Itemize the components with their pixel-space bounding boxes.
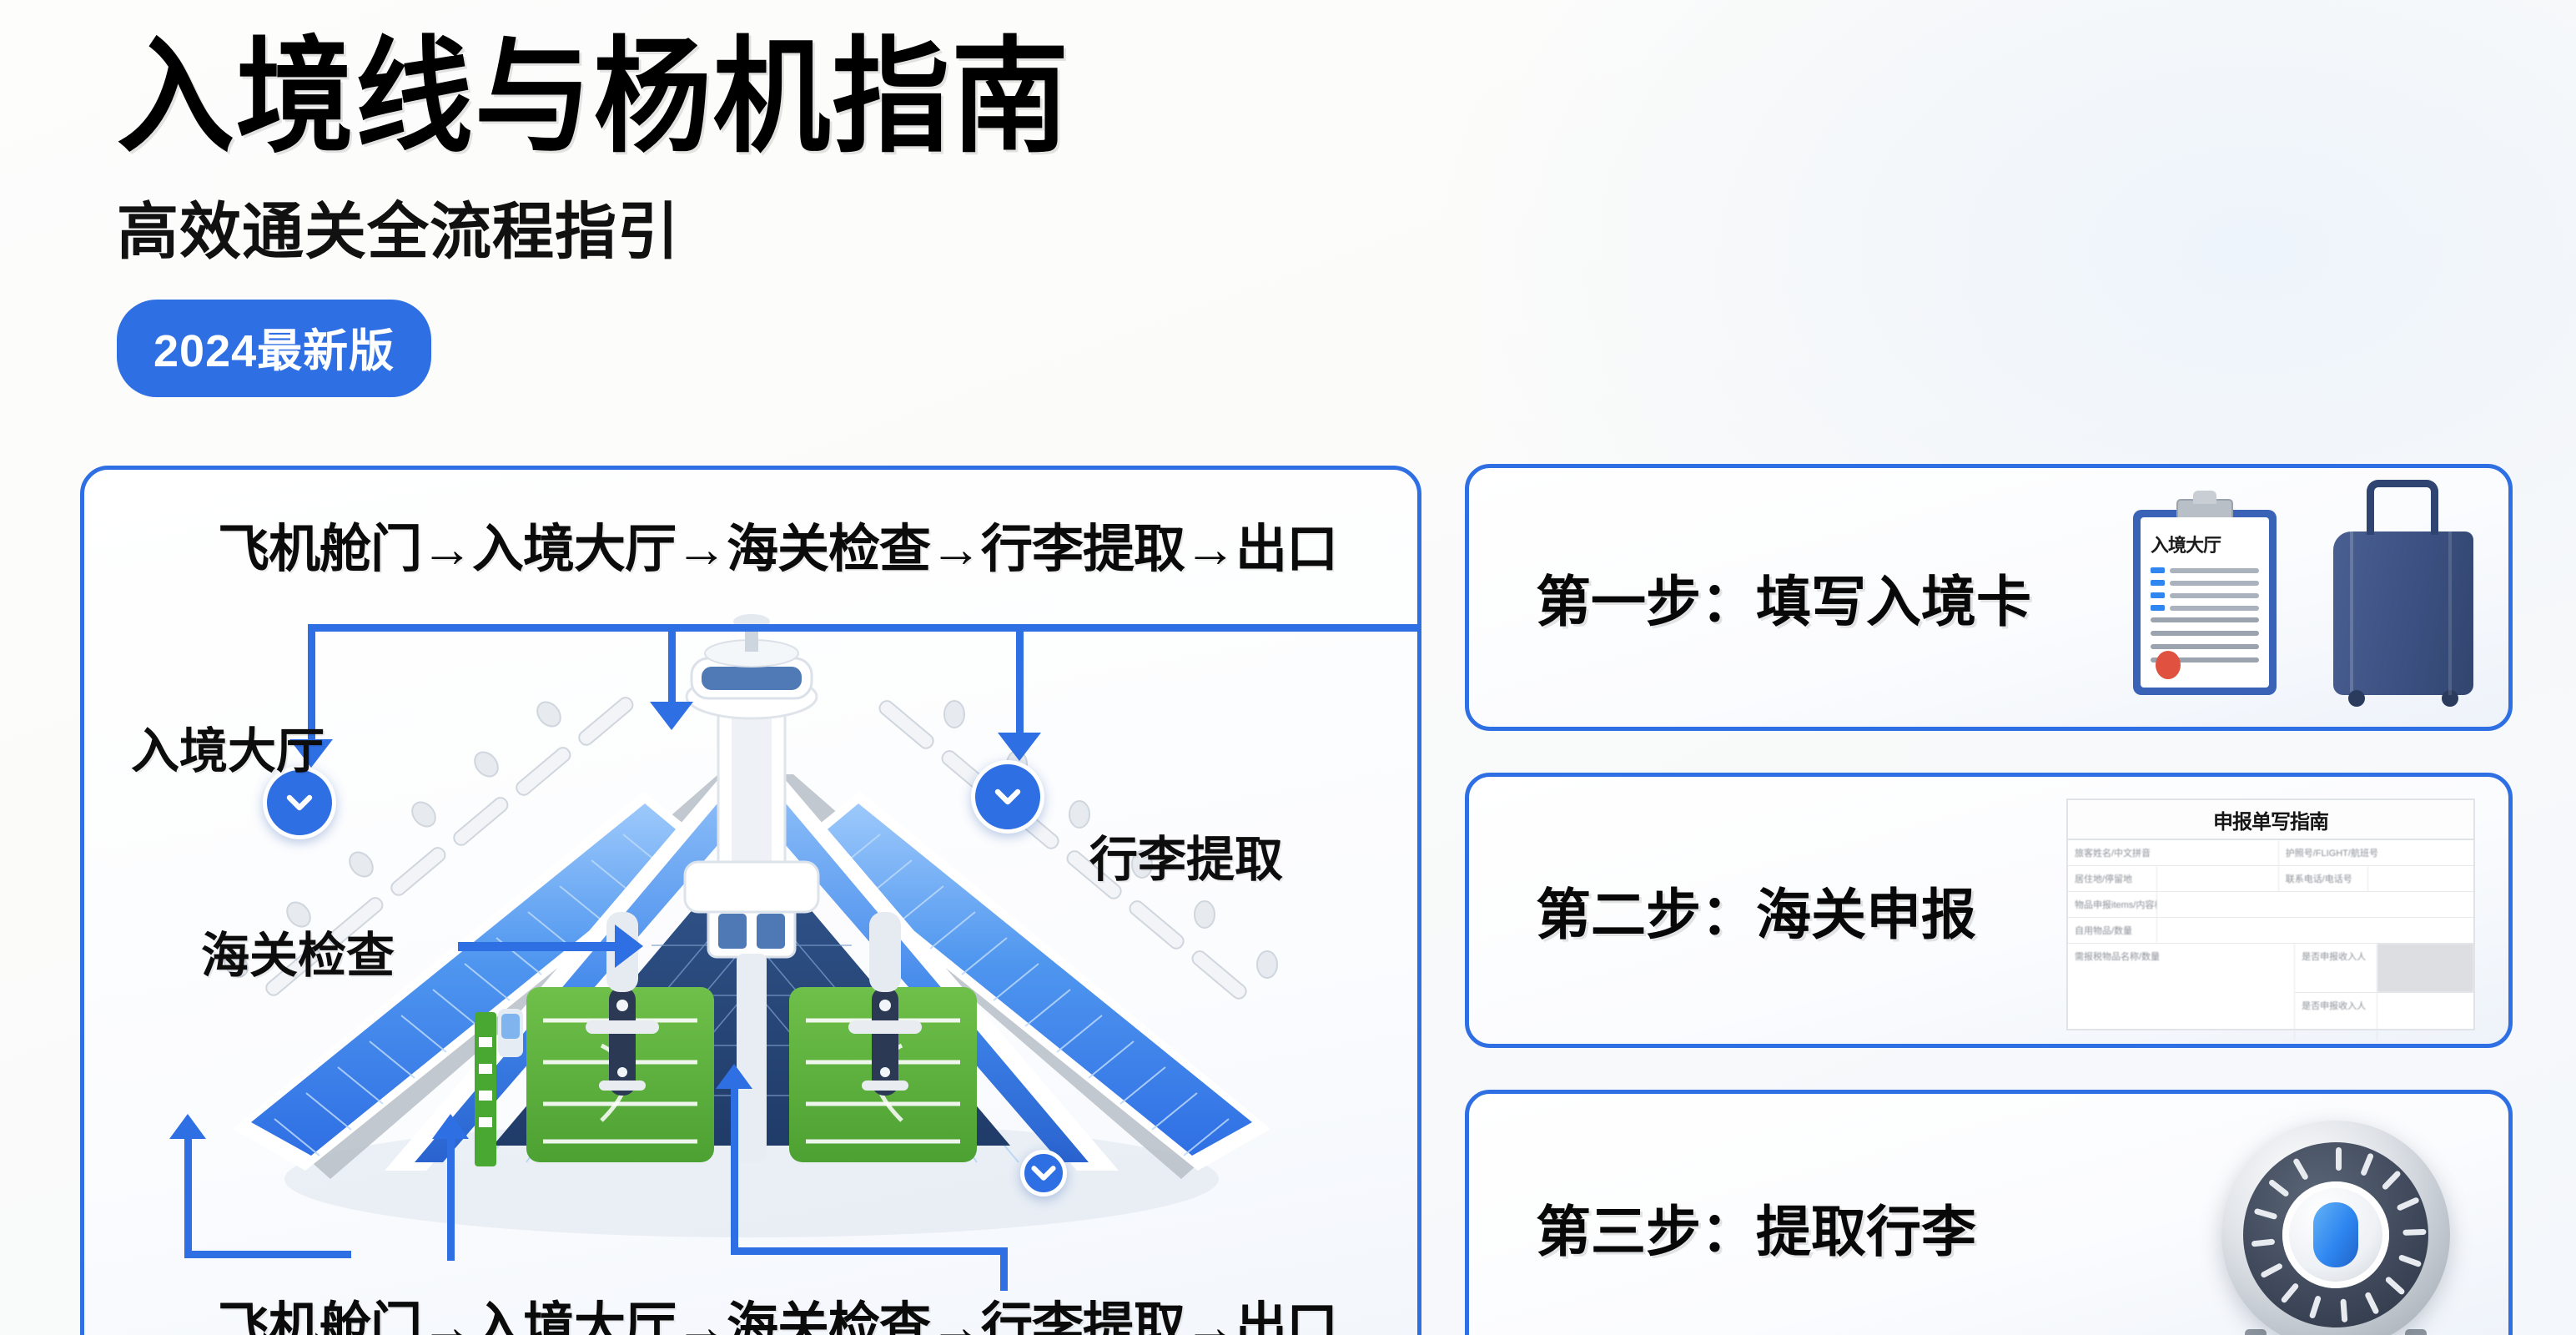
map-label-customs-check: 海关检查	[201, 916, 395, 986]
baggage-carousel-illustration	[2206, 1102, 2465, 1335]
text-placeholder	[2151, 644, 2259, 649]
step-card-3[interactable]: 第三步：提取行李	[1465, 1090, 2513, 1335]
clipboard-icon: 入境大厅	[2133, 510, 2277, 695]
suitcase-handle-icon	[2367, 480, 2438, 535]
clipboard-checkline	[2151, 592, 2259, 598]
table-cell: 需报税物品名称/数量	[2068, 944, 2295, 1040]
carousel-leg	[2245, 1329, 2267, 1335]
check-tick-icon	[2151, 580, 2165, 586]
table-row: 自用物品/数量	[2068, 918, 2473, 944]
chevron-down-badge-refund[interactable]	[1020, 1150, 1067, 1196]
table-cell-blank	[2157, 892, 2473, 917]
table-cell-blank	[2157, 918, 2473, 943]
arrow-down-baggage	[998, 733, 1041, 761]
clipboard-paper: 入境大厅	[2141, 517, 2269, 688]
terminal-map-panel: 飞机舱门→入境大厅→海关检查→行李提取→出口 飞机舱门→入境大厅→海关检查→行李…	[80, 466, 1421, 1335]
clipboard-header: 入境大厅	[2151, 531, 2259, 557]
chevron-down-icon	[988, 777, 1028, 817]
belt-tick	[2364, 1292, 2380, 1315]
belt-tick	[2384, 1276, 2405, 1296]
chevron-down-badge-baggage[interactable]	[971, 760, 1044, 834]
table-cell: 物品申报items/内容栏	[2068, 892, 2157, 917]
page-subtitle: 高效通关全流程指引	[117, 182, 1131, 271]
belt-tick	[2336, 1147, 2342, 1171]
infographic-page: 入境线与杨机指南 高效通关全流程指引 2024最新版	[0, 0, 2576, 1335]
text-placeholder	[2151, 617, 2259, 622]
table-cell-blank	[2157, 866, 2279, 891]
arrow-down-tower	[650, 702, 693, 730]
red-stamp-icon	[2156, 651, 2181, 679]
table-cell: 居住地/停留地	[2068, 866, 2157, 891]
chevron-down-icon	[1024, 1154, 1063, 1192]
table-row: 是否申报收入人	[2295, 993, 2473, 1041]
carousel-outer-ring	[2221, 1121, 2450, 1335]
belt-tick	[2381, 1170, 2401, 1191]
belt-tick	[2292, 1157, 2309, 1181]
connector-top-bus	[308, 624, 1384, 632]
clipboard-checkline	[2151, 567, 2259, 573]
belt-tick	[2309, 1295, 2322, 1319]
check-tick-icon	[2151, 592, 2165, 598]
table-cell: 护照号/FLIGHT/航班号	[2279, 840, 2473, 865]
map-label-arrivals-hall: 入境大厅	[131, 712, 325, 782]
belt-tick	[2402, 1229, 2426, 1236]
step-2-title: 第二步：海关申报	[1536, 870, 1976, 950]
arrow-up-left	[169, 1114, 206, 1139]
connector-bus-to-step1	[1376, 624, 1421, 632]
clipboard-and-suitcase-illustration: 入境大厅	[2126, 498, 2477, 707]
table-row: 居住地/停留地 联系电话/电话号	[2068, 866, 2473, 892]
suitcase-wheel-icon	[2348, 690, 2365, 707]
text-placeholder	[2170, 593, 2259, 598]
step-1-title: 第一步：填写入境卡	[1536, 557, 2031, 637]
carousel-hub	[2282, 1181, 2389, 1288]
carousel-leg	[2405, 1329, 2427, 1335]
check-tick-icon	[2151, 567, 2165, 573]
arrow-up-mid	[432, 1114, 469, 1139]
table-cell-blank	[2368, 866, 2473, 891]
belt-tick	[2340, 1299, 2347, 1322]
arrow-right-customs	[615, 924, 643, 968]
connector-to-tower	[668, 624, 676, 703]
text-placeholder	[2170, 581, 2259, 586]
clipboard-checkline	[2151, 605, 2259, 611]
step-card-2[interactable]: 第二步：海关申报 申报单写指南 旅客姓名/中文拼音 护照号/FLIGHT/航班号…	[1465, 773, 2513, 1048]
map-label-baggage-claim: 行李提取	[1089, 820, 1283, 890]
page-header: 入境线与杨机指南 高效通关全流程指引 2024最新版	[117, 32, 1131, 397]
declaration-table-title: 申报单写指南	[2068, 800, 2473, 840]
belt-tick	[2398, 1254, 2423, 1267]
clipboard-checkline	[2151, 580, 2259, 586]
belt-tick	[2254, 1208, 2278, 1220]
declaration-form-table: 申报单写指南 旅客姓名/中文拼音 护照号/FLIGHT/航班号 居住地/停留地 …	[2066, 798, 2475, 1030]
page-title: 入境线与杨机指南	[117, 32, 1070, 164]
arrow-up-right	[716, 1064, 752, 1089]
table-row: 需报税物品名称/数量 是否申报收入人 是否申报收入人	[2068, 944, 2473, 1040]
check-tick-icon	[2151, 605, 2165, 611]
table-cell: 是否申报收入人	[2295, 993, 2377, 1041]
step-3-title: 第三步：提取行李	[1536, 1187, 1976, 1267]
belt-tick	[2360, 1152, 2374, 1176]
text-placeholder	[2170, 568, 2259, 573]
table-cell-blank	[2377, 993, 2473, 1041]
table-row: 是否申报收入人	[2295, 944, 2473, 993]
chevron-down-icon	[279, 783, 319, 823]
belt-tick	[2260, 1262, 2283, 1278]
connector-bottom-left-stem	[184, 1137, 192, 1254]
step-card-1[interactable]: 第一步：填写入境卡 入境大厅	[1465, 464, 2513, 731]
connector-bottom-right	[731, 1247, 1006, 1255]
connector-bottom-mid-stem	[447, 1137, 455, 1261]
text-placeholder	[2151, 631, 2259, 636]
suitcase-icon	[2333, 531, 2473, 695]
declaration-table-grid: 旅客姓名/中文拼音 护照号/FLIGHT/航班号 居住地/停留地 联系电话/电话…	[2068, 840, 2473, 1040]
table-cell: 是否申报收入人	[2295, 944, 2377, 992]
connector-customs	[458, 942, 616, 951]
belt-tick	[2280, 1282, 2299, 1304]
flow-sequence-top: 飞机舱门→入境大厅→海关检查→行李提取→出口	[218, 506, 1337, 582]
flow-sequence-bottom: 飞机舱门→入境大厅→海关检查→行李提取→出口	[218, 1284, 1337, 1335]
table-cell: 自用物品/数量	[2068, 918, 2157, 943]
belt-tick	[2251, 1239, 2276, 1247]
connector-bottom-left	[184, 1251, 351, 1258]
table-cell: 旅客姓名/中文拼音	[2068, 840, 2279, 865]
carousel-core-icon	[2313, 1202, 2358, 1267]
version-badge: 2024最新版	[117, 300, 431, 397]
table-row: 物品申报items/内容栏	[2068, 892, 2473, 918]
belt-tick	[2396, 1196, 2419, 1212]
belt-tick	[2268, 1179, 2290, 1198]
text-placeholder	[2170, 606, 2259, 611]
table-cell-shaded	[2377, 944, 2473, 992]
table-subcolumn: 是否申报收入人 是否申报收入人	[2295, 944, 2473, 1040]
suitcase-wheel-icon	[2442, 690, 2458, 707]
connector-to-baggage	[1016, 624, 1024, 734]
table-cell: 联系电话/电话号	[2279, 866, 2368, 891]
table-row: 旅客姓名/中文拼音 护照号/FLIGHT/航班号	[2068, 840, 2473, 866]
connector-bottom-right-stem	[731, 1087, 738, 1251]
